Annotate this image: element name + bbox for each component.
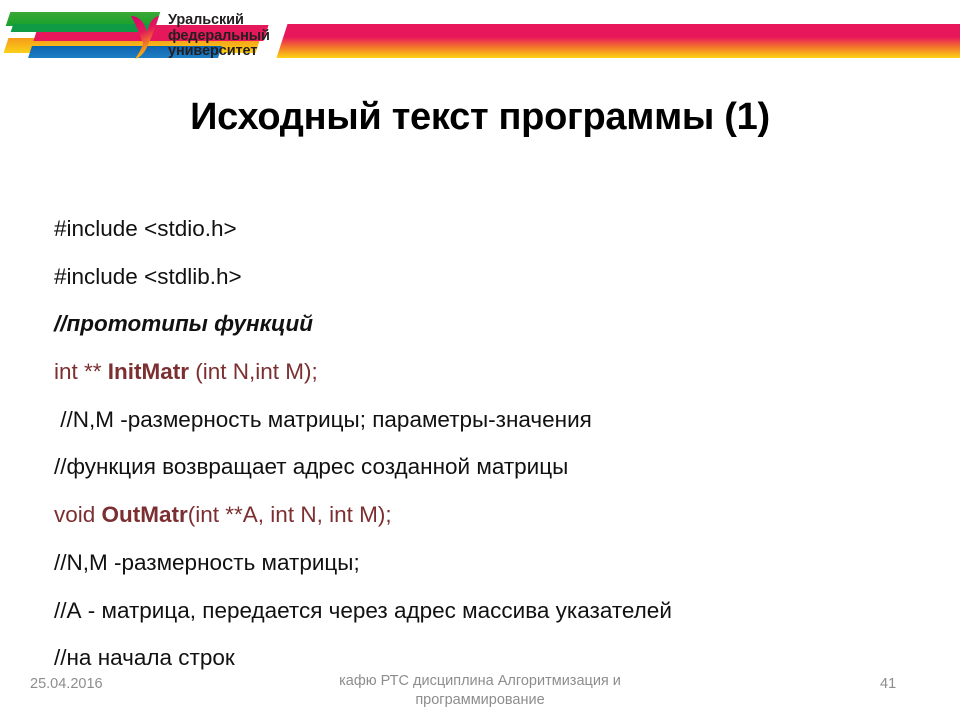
urfu-logo-line-1: Уральский: [168, 13, 270, 29]
code-function-name: OutMatr: [102, 502, 188, 527]
code-line: #include <stdio.h>: [54, 218, 914, 266]
code-function-name: InitMatr: [108, 359, 189, 384]
code-prefix: void: [54, 502, 102, 527]
code-prefix: int **: [54, 359, 108, 384]
code-line: //N,M -размерность матрицы;: [54, 552, 914, 600]
slide-footer: 25.04.2016 кафю РТС дисциплина Алгоритми…: [0, 668, 960, 720]
urfu-logo-line-3: университет: [168, 44, 270, 60]
decor-bar-right-gradient: [276, 24, 960, 58]
code-line: //N,M -размерность матрицы; параметры-зн…: [54, 409, 914, 457]
code-suffix: (int N,int M);: [189, 359, 318, 384]
footer-page-number: 41: [880, 676, 896, 692]
urfu-logo: Уральский федеральный университет: [128, 8, 268, 66]
footer-course-text: кафю РТС дисциплина Алгоритмизация и про…: [300, 672, 660, 710]
code-line-prototype: void OutMatr(int **A, int N, int M);: [54, 504, 914, 552]
urfu-swoosh-mark-icon: [128, 14, 162, 60]
code-suffix: (int **A, int N, int M);: [188, 502, 392, 527]
code-line-prototype: int ** InitMatr (int N,int M);: [54, 361, 914, 409]
slide-body: #include <stdio.h> #include <stdlib.h> /…: [54, 218, 914, 695]
urfu-logo-line-2: федеральный: [168, 29, 270, 45]
footer-date: 25.04.2016: [30, 676, 103, 692]
slide-title: Исходный текст программы (1): [60, 96, 900, 139]
code-line: //функция возвращает адрес созданной мат…: [54, 456, 914, 504]
code-line: //А - матрица, передается через адрес ма…: [54, 600, 914, 648]
urfu-logo-text: Уральский федеральный университет: [168, 13, 270, 60]
code-line: #include <stdlib.h>: [54, 266, 914, 314]
code-line: //прототипы функций: [54, 313, 914, 361]
